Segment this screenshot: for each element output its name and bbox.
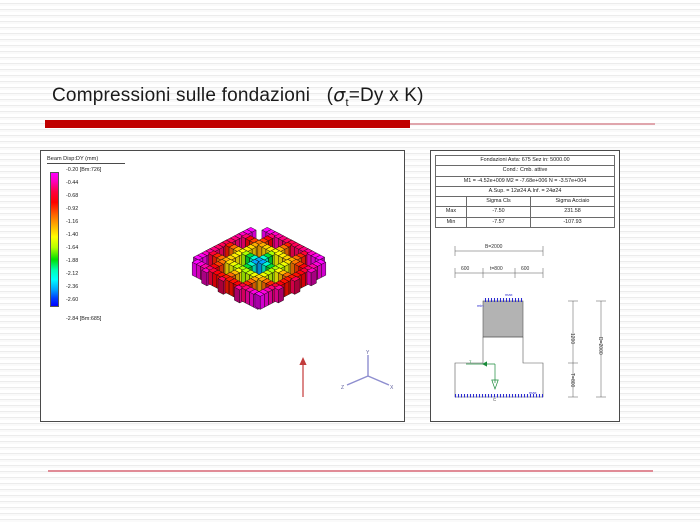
- footer-rule: [48, 470, 653, 472]
- title-underline: [45, 120, 655, 129]
- legend-label-4: -1.16: [66, 219, 78, 225]
- table-row-header2: Cond.: Cmb. attive: [436, 166, 615, 176]
- cell-max-acciaio: 231.58: [530, 207, 614, 217]
- dim-hweb-label: 1200: [569, 333, 575, 344]
- title-block: Compressioni sulle fondazioni (σt=Dy x K…: [52, 84, 652, 109]
- table-row: Max -7.50 231.58: [436, 207, 615, 217]
- legend-color-bar: [50, 172, 59, 307]
- table-row-header3: M1 = -4.52e+009 M2 = -7.68e+006 N = -3.5…: [436, 176, 615, 186]
- cell-max-cls: -7.50: [467, 207, 531, 217]
- sigma-symbol: σ: [333, 84, 345, 106]
- label-C: C: [493, 397, 497, 402]
- beam-grid-model[interactable]: Y Z X: [111, 179, 401, 394]
- column-header-sigma-acciaio: Sigma Acciaio: [530, 197, 614, 207]
- title-rule-thick: [45, 120, 410, 128]
- legend-label-9: -2.36: [66, 284, 78, 290]
- report-header-line3: M1 = -4.52e+009 M2 = -7.68e+006 N = -3.5…: [436, 176, 615, 186]
- table-row-header1: Fondazioni Asta: 675 Sez in: 5000.00: [436, 156, 615, 166]
- legend-label-6: -1.64: [66, 245, 78, 251]
- slide-canvas: Compressioni sulle fondazioni (σt=Dy x K…: [0, 0, 700, 525]
- dim-T-label: T=800: [569, 373, 575, 388]
- row-label-min: Min: [436, 217, 467, 227]
- legend-label-7: -1.88: [66, 258, 78, 264]
- row-label-max: Max: [436, 207, 467, 217]
- report-header-line1: Fondazioni Asta: 675 Sez in: 5000.00: [436, 156, 615, 166]
- axis-triad-icon: Y Z X: [341, 350, 395, 390]
- svg-text:Y: Y: [366, 350, 370, 356]
- report-header-line4: A.Sup. = 12ø24 A.Inf. = 24ø24: [436, 186, 615, 196]
- cell-min-cls: -7.57: [467, 217, 531, 227]
- dim-D-label: D=2000: [597, 337, 603, 355]
- dim-left-label: 600: [461, 266, 470, 272]
- svg-text:Z: Z: [341, 385, 344, 390]
- legend-label-1: -0.44: [66, 180, 78, 186]
- label-min-top: min: [477, 303, 483, 308]
- dim-right-label: 600: [521, 266, 530, 272]
- svg-text:X: X: [390, 385, 394, 390]
- report-panel[interactable]: Fondazioni Asta: 675 Sez in: 5000.00 Con…: [430, 150, 620, 422]
- legend-label-2: -0.68: [66, 193, 78, 199]
- legend-label-8: -2.12: [66, 271, 78, 277]
- legend-label-11: -2.84 [Bm:685]: [66, 316, 101, 322]
- column-header-blank: [436, 197, 467, 207]
- dim-web-label: t=800: [490, 266, 503, 272]
- legend-label-10: -2.60: [66, 297, 78, 303]
- label-max-bottom: max: [529, 390, 537, 395]
- cell-min-acciaio: -107.93: [530, 217, 614, 227]
- page-title-formula: =Dy x K): [349, 85, 424, 106]
- section-drawing-svg: B=2000 600 t=800 600: [433, 237, 619, 419]
- page-title: Compressioni sulle fondazioni (σt=Dy x K…: [52, 84, 652, 109]
- report-header-line2: Cond.: Cmb. attive: [436, 166, 615, 176]
- legend-label-5: -1.40: [66, 232, 78, 238]
- load-arrow-icon: [296, 357, 310, 397]
- column-header-sigma-cls: Sigma Cls: [467, 197, 531, 207]
- legend-title: Beam Disp:DY (mm): [47, 156, 125, 164]
- legend-label-0: -0.20 [Bm:726]: [66, 167, 101, 173]
- table-row: Min -7.57 -107.93: [436, 217, 615, 227]
- table-row-columns: Sigma Cls Sigma Acciaio: [436, 197, 615, 207]
- label-max-top: max: [505, 292, 513, 297]
- model-view-panel[interactable]: Beam Disp:DY (mm) -0.20 [Bm:726] -0.44 -…: [40, 150, 405, 422]
- legend-label-3: -0.92: [66, 206, 78, 212]
- table-row-header4: A.Sup. = 12ø24 A.Inf. = 24ø24: [436, 186, 615, 196]
- stress-report-table: Fondazioni Asta: 675 Sez in: 5000.00 Con…: [435, 155, 615, 228]
- page-title-main: Compressioni sulle fondazioni: [52, 85, 310, 106]
- title-rule-thin: [410, 123, 655, 125]
- dim-B-label: B=2000: [485, 244, 503, 250]
- section-drawing[interactable]: B=2000 600 t=800 600: [433, 237, 619, 419]
